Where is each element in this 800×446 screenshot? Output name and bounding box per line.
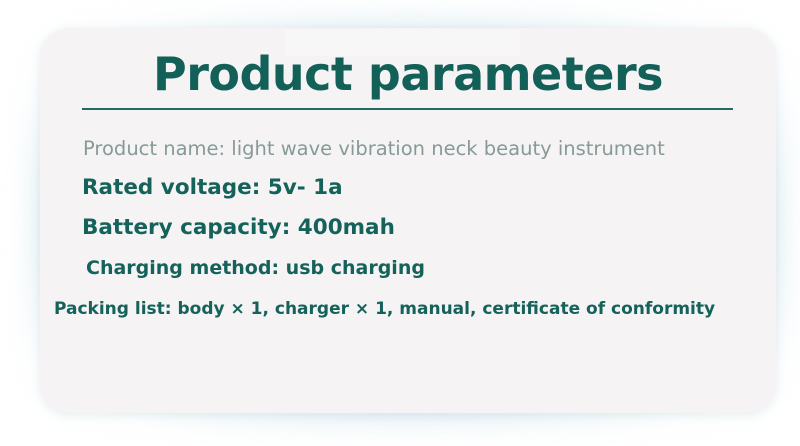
spec-packing-list: Packing list: body × 1, charger × 1, man… [54, 300, 715, 319]
spec-charging-method: Charging method: usb charging [86, 258, 425, 279]
spec-rated-voltage: Rated voltage: 5v- 1a [82, 176, 343, 200]
title-divider [82, 108, 733, 110]
page-title: Product parameters [40, 50, 776, 98]
product-parameters-banner: Product parameters Product name: light w… [0, 0, 800, 446]
product-parameters-card: Product parameters Product name: light w… [40, 28, 776, 413]
spec-product-name: Product name: light wave vibration neck … [83, 138, 665, 159]
spec-battery-capacity: Battery capacity: 400mah [82, 216, 395, 240]
